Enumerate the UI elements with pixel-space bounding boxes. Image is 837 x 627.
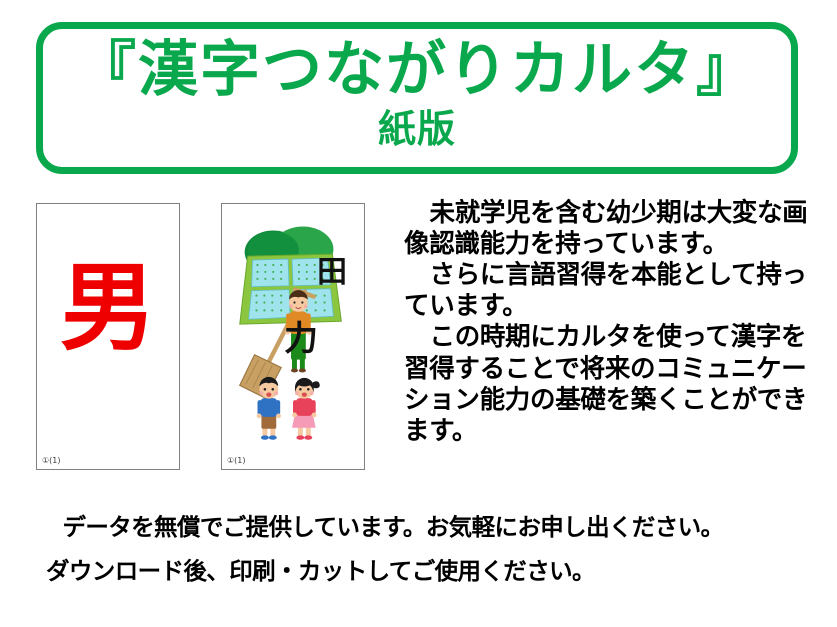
kanji-card-character: 男 ①(1) bbox=[36, 203, 180, 470]
title-banner: 『漢字つながりカルタ』 紙版 bbox=[36, 22, 798, 174]
footer-line-2: ダウンロード後、印刷・カットしてご使用ください。 bbox=[46, 560, 826, 584]
footer-line-1: データを無償でご提供しています。お気軽にお申し出ください。 bbox=[46, 516, 826, 540]
card-index-label: ①(1) bbox=[227, 457, 246, 465]
kanji-glyph-ta: 田 bbox=[317, 258, 347, 288]
card-index-label: ①(1) bbox=[42, 457, 61, 465]
figure-girl bbox=[292, 378, 320, 440]
description-paragraph-1: 未就学児を含む幼少期は大変な画像認識能力を持っています。 bbox=[404, 198, 824, 260]
footer-notice: データを無償でご提供しています。お気軽にお申し出ください。 ダウンロード後、印刷… bbox=[46, 516, 826, 603]
page-title: 『漢字つながりカルタ』 bbox=[43, 39, 791, 102]
kanji-glyph-chikara: 力 bbox=[284, 322, 318, 356]
page-subtitle: 紙版 bbox=[43, 109, 791, 151]
description-text: 未就学児を含む幼少期は大変な画像認識能力を持っています。 さらに言語習得を本能と… bbox=[404, 198, 824, 447]
kanji-card-illustration: 田 力 ①(1) bbox=[221, 203, 365, 470]
figure-boy bbox=[257, 377, 281, 440]
description-paragraph-3: この時期にカルタを使って漢字を習得することで将来のコミュニケーション能力の基礎を… bbox=[404, 322, 824, 446]
kanji-glyph-otoko: 男 bbox=[37, 260, 179, 356]
description-paragraph-2: さらに言語習得を本能として持っています。 bbox=[404, 260, 824, 322]
